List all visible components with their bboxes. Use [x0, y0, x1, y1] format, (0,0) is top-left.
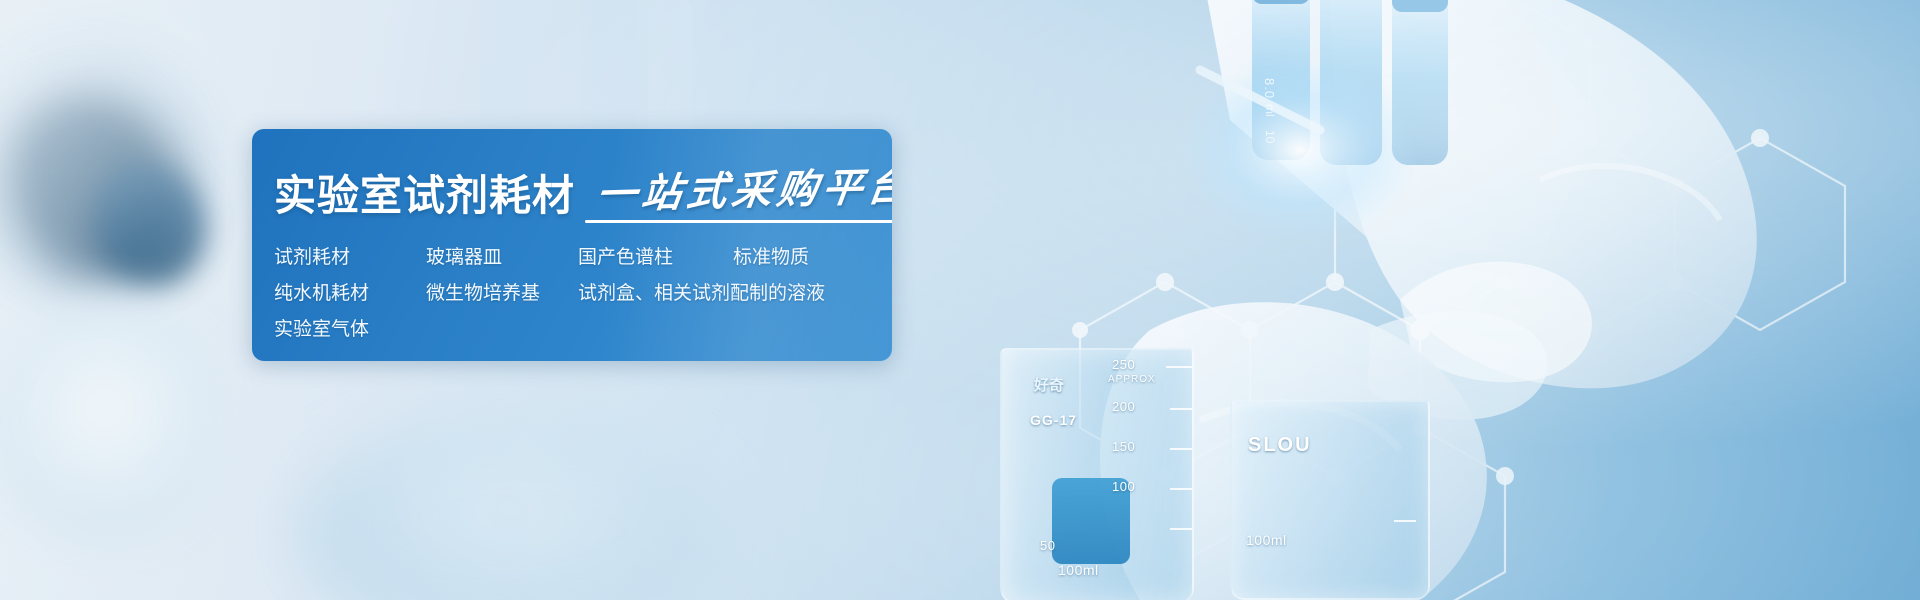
- headline-main-text: 实验室试剂耗材: [274, 175, 575, 217]
- tag-item[interactable]: 实验室气体: [274, 319, 426, 342]
- tag-row: 试剂耗材 玻璃器皿 国产色谱柱 标准物质: [274, 247, 892, 270]
- beaker-secondary-volume: 100ml: [1246, 532, 1287, 548]
- graduation-tick-150: [1170, 448, 1192, 450]
- headline-script-text: 一站式采购平台: [594, 167, 892, 216]
- headline-script-wrap: 一站式采购平台: [591, 171, 892, 217]
- headline: 实验室试剂耗材 一站式采购平台: [274, 155, 892, 217]
- category-tag-list: 试剂耗材 玻璃器皿 国产色谱柱 标准物质 纯水机耗材 微生物培养基 试剂盒、相关…: [274, 247, 892, 341]
- headline-underline: [585, 220, 892, 223]
- tag-item[interactable]: 微生物培养基: [426, 283, 578, 306]
- graduation-label-250: 250: [1112, 357, 1135, 372]
- beaker-primary: 250 APPROX 200 150 100 50 好奇 GG-17 100ml: [1000, 330, 1210, 600]
- tag-row: 实验室气体: [274, 319, 892, 342]
- beaker-volume-label: 100ml: [1058, 562, 1099, 578]
- promo-content-panel: 实验室试剂耗材 一站式采购平台 试剂耗材 玻璃器皿 国产色谱柱 标准物质 纯水机…: [252, 129, 892, 361]
- tag-item[interactable]: 纯水机耗材: [274, 283, 426, 306]
- graduation-label-100: 100: [1112, 479, 1135, 494]
- tag-row: 纯水机耗材 微生物培养基 试剂盒、相关试剂配制的溶液: [274, 283, 892, 306]
- tag-item[interactable]: 试剂耗材: [274, 247, 426, 270]
- beaker-brand-code: GG-17: [1030, 412, 1077, 428]
- beaker-secondary-body: [1230, 400, 1430, 600]
- secondary-graduation-tick: [1394, 520, 1416, 522]
- tag-item[interactable]: 试剂盒、相关试剂配制的溶液: [578, 283, 825, 306]
- tag-item[interactable]: 国产色谱柱: [578, 247, 733, 270]
- graduation-label-50: 50: [1040, 538, 1055, 553]
- tag-item[interactable]: 玻璃器皿: [426, 247, 578, 270]
- graduation-tick-50: [1170, 528, 1192, 530]
- graduation-tick-100: [1170, 488, 1192, 490]
- graduation-label-200: 200: [1112, 399, 1135, 414]
- beaker-logo-text: 好奇: [1034, 374, 1064, 395]
- tag-item[interactable]: 标准物质: [733, 247, 809, 270]
- graduation-tick-250: [1166, 366, 1192, 368]
- promo-banner: 8.0 ml 10 250 APPROX 200 150 100 50 好奇 G…: [0, 0, 1920, 600]
- graduation-label-150: 150: [1112, 439, 1135, 454]
- graduation-approx-label: APPROX: [1108, 374, 1156, 385]
- beaker-secondary: SLOU 100ml: [1230, 400, 1430, 600]
- beaker-secondary-brand: SLOU: [1248, 434, 1312, 457]
- graduation-tick-200: [1170, 408, 1192, 410]
